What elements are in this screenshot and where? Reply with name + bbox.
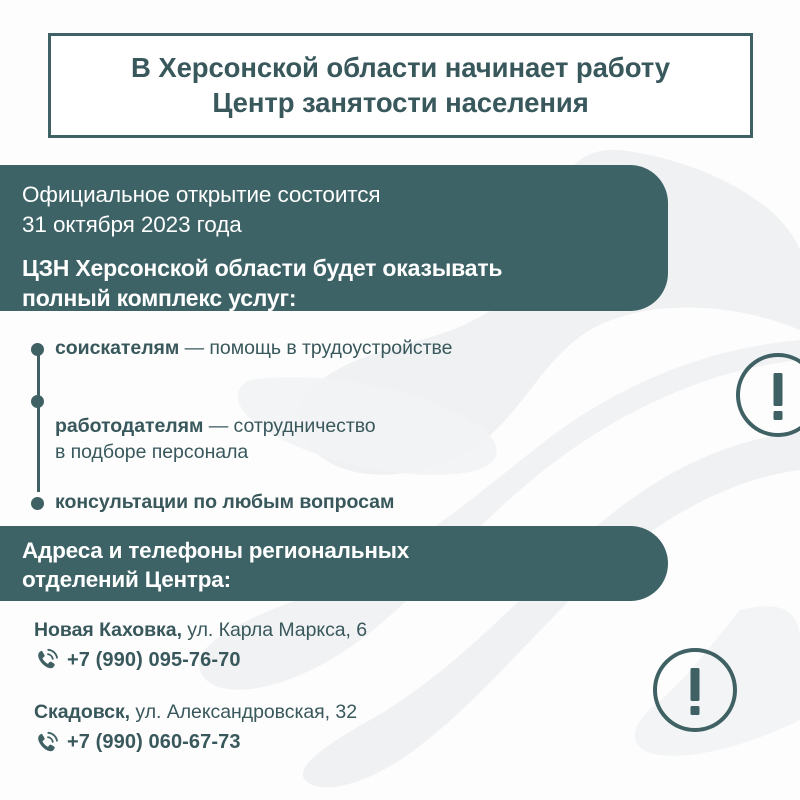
contact-address: Новая Каховка, ул. Карла Маркса, 6 — [34, 618, 634, 643]
service-text: работодателям — сотрудничество в подборе… — [55, 388, 662, 466]
contact-city: Новая Каховка, — [34, 619, 182, 641]
addresses-heading-block: Адреса и телефоны региональных отделений… — [0, 526, 668, 601]
service-lead: работодателям — [55, 415, 203, 437]
contact-entry: Новая Каховка, ул. Карла Маркса, 6 +7 (9… — [34, 618, 634, 673]
poster-title-box: В Херсонской области начинает работу Цен… — [48, 33, 753, 138]
contact-phone-row[interactable]: +7 (990) 060-67-73 — [34, 730, 634, 756]
contact-phone-number[interactable]: +7 (990) 095-76-70 — [67, 649, 241, 672]
bullet-dot-icon — [31, 497, 44, 510]
exclamation-badge-bottom-icon — [650, 645, 740, 735]
bullet-dot-icon — [31, 395, 44, 408]
services-list: соискателям — помощь в трудоустройстве р… — [22, 336, 662, 518]
list-item: соискателям — помощь в трудоустройстве — [22, 336, 662, 364]
contact-phone-row[interactable]: +7 (990) 095-76-70 — [34, 647, 634, 673]
list-item: работодателям — сотрудничество в подборе… — [22, 388, 662, 466]
poster-canvas: В Херсонской области начинает работу Цен… — [0, 0, 800, 800]
service-text: соискателям — помощь в трудоустройстве — [55, 336, 662, 362]
contact-phone-number[interactable]: +7 (990) 060-67-73 — [67, 731, 241, 754]
services-intro-text: ЦЗН Херсонской области будет оказывать п… — [22, 253, 648, 314]
contact-entry: Скадовск, ул. Александровская, 32 +7 (99… — [34, 700, 634, 755]
contact-street: ул. Карла Маркса, 6 — [182, 619, 367, 641]
addresses-heading-text: Адреса и телефоны региональных отделений… — [22, 537, 648, 595]
phone-icon — [34, 647, 60, 673]
bullet-dot-icon — [31, 343, 44, 356]
exclamation-badge-top-icon — [733, 350, 800, 440]
list-item: консультации по любым вопросам — [22, 490, 662, 518]
service-text: консультации по любым вопросам — [55, 490, 662, 516]
opening-announcement-block: Официальное открытие состоится 31 октябр… — [0, 165, 668, 311]
contact-address: Скадовск, ул. Александровская, 32 — [34, 700, 634, 725]
contact-city: Скадовск, — [34, 701, 130, 723]
phone-icon — [34, 730, 60, 756]
page-title: В Херсонской области начинает работу Цен… — [131, 51, 670, 120]
service-lead: соискателям — [55, 337, 179, 359]
opening-date-text: Официальное открытие состоится 31 октябр… — [22, 180, 648, 240]
service-lead: консультации по любым вопросам — [55, 491, 394, 513]
contacts-list: Новая Каховка, ул. Карла Маркса, 6 +7 (9… — [34, 618, 634, 756]
contact-street: ул. Александровская, 32 — [130, 701, 357, 723]
service-rest: — помощь в трудоустройстве — [179, 337, 452, 359]
